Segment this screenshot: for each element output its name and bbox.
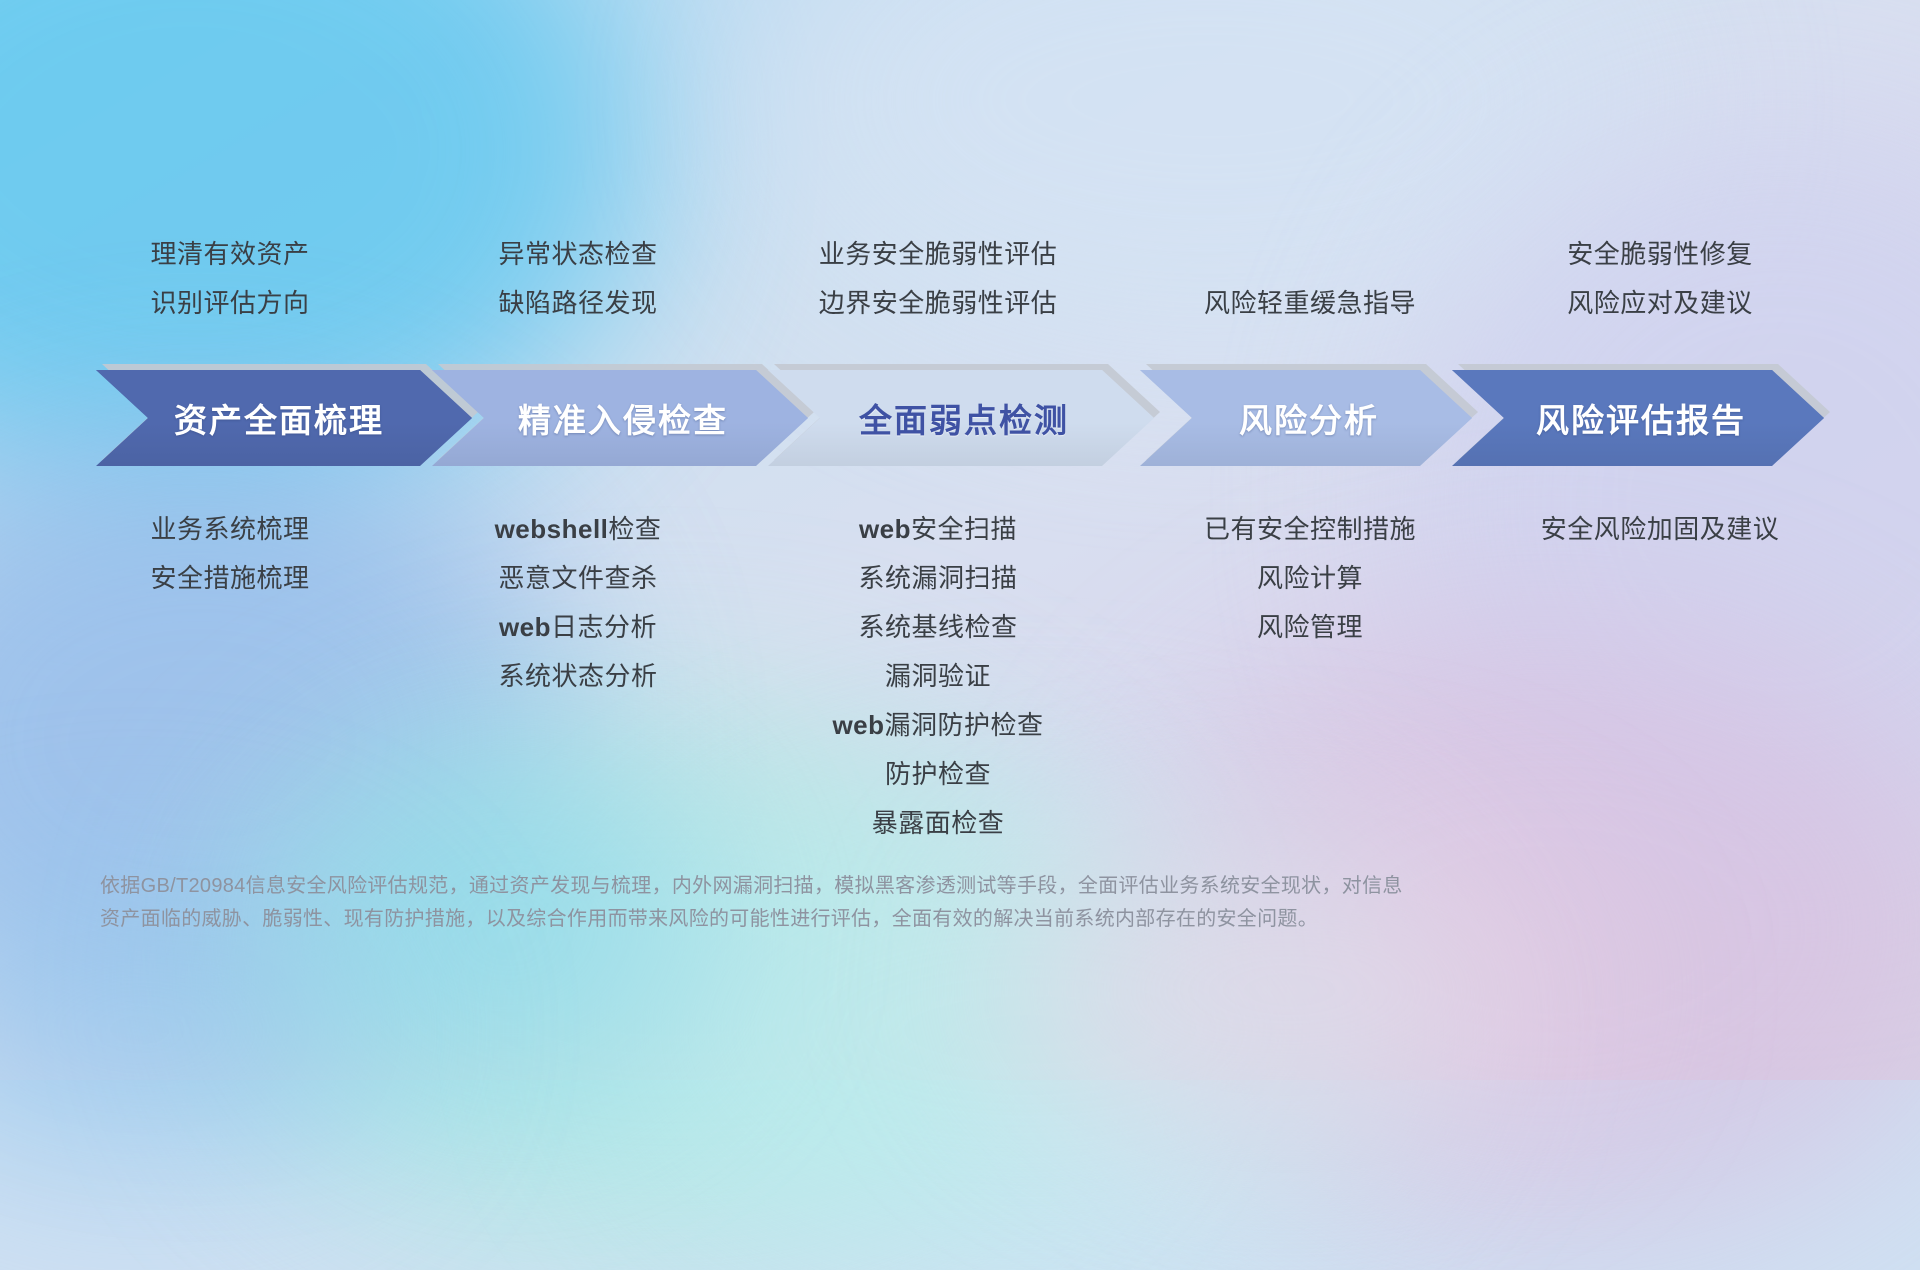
bottom-label-item: 风险计算 <box>1090 554 1530 603</box>
bottom-label-latin: web <box>859 514 911 544</box>
bottom-label-item: 暴露面检查 <box>718 799 1158 848</box>
bottom-label-item: 漏洞验证 <box>718 652 1158 701</box>
bottom-label-item: 风险管理 <box>1090 603 1530 652</box>
stage-arrow-asset-inventory[interactable]: 资产全面梳理 <box>96 370 472 466</box>
bottom-label-latin: web <box>499 612 551 642</box>
stage-arrow-title: 精准入侵检查 <box>518 394 728 442</box>
bottom-label-latin: web <box>832 710 884 740</box>
bottom-label-group-risk-report: 安全风险加固及建议 <box>1440 505 1880 554</box>
bottom-label-zh: 安全扫描 <box>911 514 1017 544</box>
bottom-label-item: web漏洞防护检查 <box>718 701 1158 750</box>
footer-line-1: 依据GB/T20984信息安全风险评估规范，通过资产发现与梳理，内外网漏洞扫描，… <box>100 870 1660 903</box>
bottom-label-zh: 日志分析 <box>551 612 657 642</box>
stage-arrow-weakness-detection[interactable]: 全面弱点检测 <box>768 370 1154 466</box>
stage-arrow-risk-analysis[interactable]: 风险分析 <box>1140 370 1472 466</box>
stage-arrow-risk-report[interactable]: 风险评估报告 <box>1452 370 1824 466</box>
stage-arrow-title: 全面弱点检测 <box>859 394 1069 442</box>
footer-description: 依据GB/T20984信息安全风险评估规范，通过资产发现与梳理，内外网漏洞扫描，… <box>100 870 1660 936</box>
bottom-label-zh: 检查 <box>608 514 661 544</box>
stage-arrow-title: 风险分析 <box>1239 394 1379 442</box>
stage-arrow-title: 风险评估报告 <box>1536 394 1746 442</box>
bottom-label-latin: webshell <box>495 514 609 544</box>
top-label-item: 风险应对及建议 <box>1440 279 1880 328</box>
process-diagram: 理清有效资产识别评估方向异常状态检查缺陷路径发现业务安全脆弱性评估边界安全脆弱性… <box>0 0 1920 1080</box>
stage-arrow-band: 资产全面梳理精准入侵检查全面弱点检测风险分析风险评估报告 <box>0 370 1920 466</box>
stage-arrow-intrusion-check[interactable]: 精准入侵检查 <box>432 370 808 466</box>
footer-line-2: 资产面临的威胁、脆弱性、现有防护措施，以及综合作用而带来风险的可能性进行评估，全… <box>100 903 1660 936</box>
top-label-group-risk-report: 安全脆弱性修复风险应对及建议 <box>1440 230 1880 328</box>
bottom-label-zh: 漏洞防护检查 <box>885 710 1044 740</box>
top-label-item: 安全脆弱性修复 <box>1440 230 1880 279</box>
stage-bottom-labels: 业务系统梳理安全措施梳理webshell检查恶意文件查杀web日志分析系统状态分… <box>0 505 1920 825</box>
bottom-label-item: 防护检查 <box>718 750 1158 799</box>
bottom-label-item: 安全风险加固及建议 <box>1440 505 1880 554</box>
top-label-item: 业务安全脆弱性评估 <box>718 230 1158 279</box>
stage-top-labels: 理清有效资产识别评估方向异常状态检查缺陷路径发现业务安全脆弱性评估边界安全脆弱性… <box>0 230 1920 350</box>
stage-arrow-title: 资产全面梳理 <box>174 394 384 442</box>
